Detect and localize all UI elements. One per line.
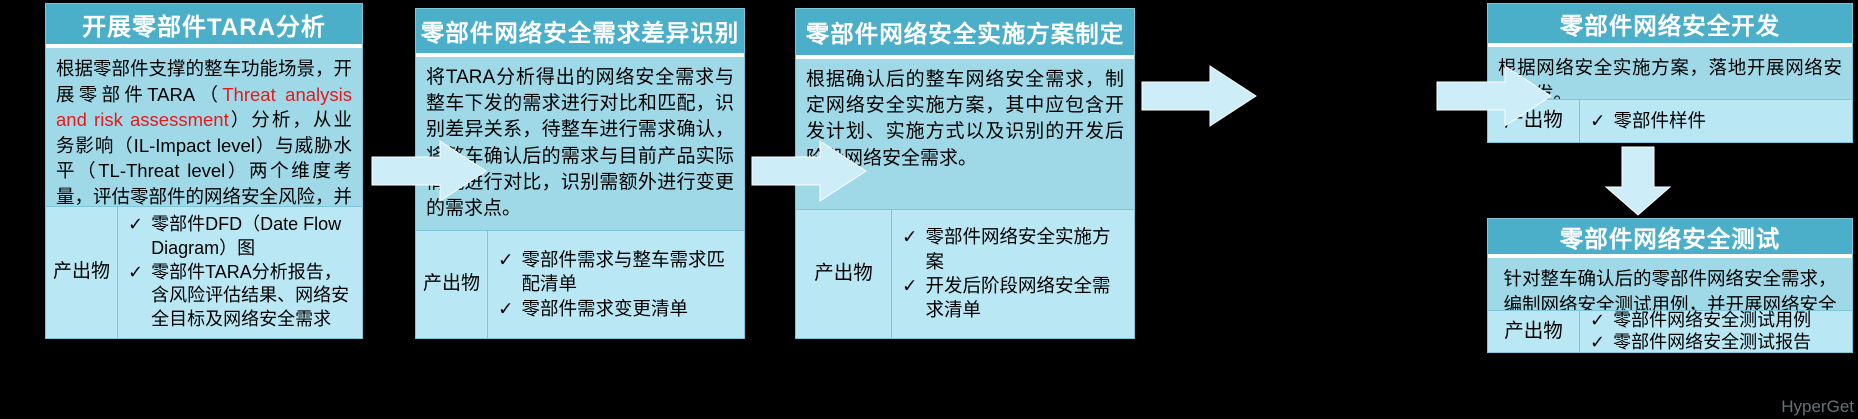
- output-row: 产出物 ✓零部件网络安全实施方案✓开发后阶段网络安全需求清单: [796, 209, 1134, 338]
- output-label: 产出物: [796, 210, 892, 338]
- output-label: 产出物: [1488, 311, 1580, 352]
- check-icon: ✓: [1590, 310, 1605, 332]
- check-icon: ✓: [902, 225, 918, 249]
- output-label: 产出物: [46, 207, 118, 338]
- card-title: 零部件网络安全需求差异识别: [416, 9, 744, 53]
- output-list: ✓零部件样件: [1580, 100, 1852, 142]
- arrow-right-icon: [748, 135, 870, 207]
- output-row: 产出物 ✓零部件网络安全测试用例✓零部件网络安全测试报告: [1488, 310, 1852, 352]
- check-icon: ✓: [498, 297, 514, 321]
- card-title: 零部件网络安全开发: [1488, 4, 1852, 43]
- card-title: 零部件网络安全测试: [1488, 219, 1852, 254]
- card-title: 开展零部件TARA分析: [46, 4, 362, 44]
- output-item: ✓零部件需求变更清单: [498, 297, 736, 321]
- output-item: ✓零部件网络安全测试报告: [1590, 332, 1844, 354]
- output-row: 产出物 ✓零部件需求与整车需求匹配清单✓零部件需求变更清单: [416, 230, 744, 338]
- output-item-label: 零部件需求与整车需求匹配清单: [522, 248, 736, 297]
- flow-diagram-canvas: 开展零部件TARA分析 根据零部件支撑的整车功能场景，开展零部件TARA（Thr…: [0, 0, 1858, 419]
- output-list: ✓零部件DFD（Date Flow Diagram）图✓零部件TARA分析报告，…: [118, 207, 362, 338]
- check-icon: ✓: [128, 213, 143, 237]
- watermark: HyperGet: [1781, 397, 1854, 417]
- output-list: ✓零部件网络安全实施方案✓开发后阶段网络安全需求清单: [892, 210, 1134, 338]
- process-card-tara-analysis[interactable]: 开展零部件TARA分析 根据零部件支撑的整车功能场景，开展零部件TARA（Thr…: [45, 3, 363, 339]
- output-item-label: 零部件需求变更清单: [522, 297, 736, 321]
- output-item: ✓零部件TARA分析报告，含风险评估结果、网络安全目标及网络安全需求: [128, 261, 354, 332]
- output-item: ✓开发后阶段网络安全需求清单: [902, 274, 1126, 323]
- arrow-right-icon: [1433, 60, 1555, 132]
- output-item: ✓零部件需求与整车需求匹配清单: [498, 248, 736, 297]
- output-list: ✓零部件需求与整车需求匹配清单✓零部件需求变更清单: [488, 231, 744, 338]
- output-row: 产出物 ✓零部件DFD（Date Flow Diagram）图✓零部件TARA分…: [46, 206, 362, 338]
- output-item-label: 零部件TARA分析报告，含风险评估结果、网络安全目标及网络安全需求: [151, 261, 354, 332]
- check-icon: ✓: [128, 261, 143, 285]
- card-description: 根据零部件支撑的整车功能场景，开展零部件TARA（Threat analysis…: [46, 48, 362, 206]
- card-description: 针对整车确认后的零部件网络安全需求，编制网络安全测试用例，并开展网络安全测试。: [1488, 258, 1852, 310]
- output-item-label: 零部件网络安全测试报告: [1613, 332, 1844, 354]
- output-item: ✓零部件DFD（Date Flow Diagram）图: [128, 213, 354, 261]
- check-icon: ✓: [498, 248, 514, 272]
- output-item-label: 零部件网络安全实施方案: [926, 225, 1126, 274]
- arrow-down-icon: [1600, 145, 1676, 217]
- output-item-label: 开发后阶段网络安全需求清单: [926, 274, 1126, 323]
- output-item: ✓零部件样件: [1590, 109, 1844, 133]
- check-icon: ✓: [902, 274, 918, 298]
- process-card-testing[interactable]: 零部件网络安全测试 针对整车确认后的零部件网络安全需求，编制网络安全测试用例，并…: [1487, 218, 1853, 353]
- output-item: ✓零部件网络安全测试用例: [1590, 310, 1844, 332]
- output-item-label: 零部件网络安全测试用例: [1613, 310, 1844, 332]
- output-item: ✓零部件网络安全实施方案: [902, 225, 1126, 274]
- arrow-right-icon: [368, 135, 490, 207]
- arrow-right-icon: [1138, 60, 1260, 132]
- check-icon: ✓: [1590, 109, 1606, 133]
- output-item-label: 零部件DFD（Date Flow Diagram）图: [151, 213, 354, 261]
- check-icon: ✓: [1590, 332, 1605, 354]
- output-list: ✓零部件网络安全测试用例✓零部件网络安全测试报告: [1580, 311, 1852, 352]
- output-item-label: 零部件样件: [1614, 109, 1844, 133]
- output-label: 产出物: [416, 231, 488, 338]
- card-title: 零部件网络安全实施方案制定: [796, 9, 1134, 55]
